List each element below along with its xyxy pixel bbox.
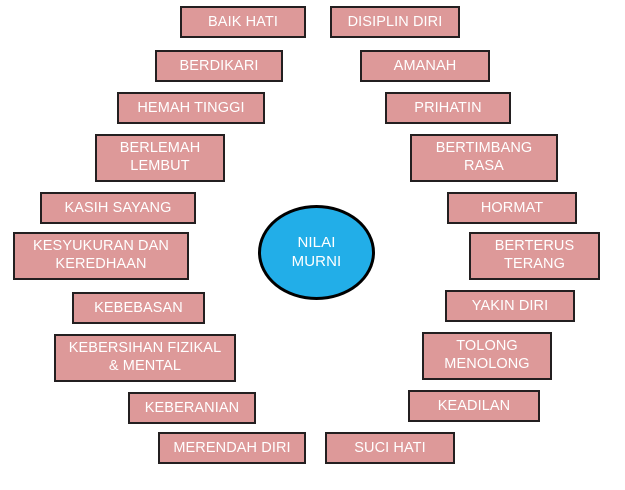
- value-node-label: KEADILAN: [438, 398, 511, 414]
- value-node-prihatin: PRIHATIN: [385, 92, 511, 124]
- value-node-label: TOLONG MENOLONG: [444, 338, 529, 373]
- value-node-kesyukuran-keredhaan: KESYUKURAN DAN KEREDHAAN: [13, 232, 189, 280]
- value-node-tolong-menolong: TOLONG MENOLONG: [422, 332, 552, 380]
- value-node-label: KASIH SAYANG: [64, 200, 171, 216]
- value-node-berterus-terang: BERTERUS TERANG: [469, 232, 600, 280]
- value-node-label: HORMAT: [481, 200, 543, 216]
- value-node-baik-hati: BAIK HATI: [180, 6, 306, 38]
- center-node-nilai-murni: NILAI MURNI: [258, 205, 375, 300]
- value-node-label: KESYUKURAN DAN KEREDHAAN: [33, 238, 169, 273]
- value-node-hormat: HORMAT: [447, 192, 577, 224]
- value-node-label: PRIHATIN: [414, 100, 481, 116]
- value-node-label: KEBERSIHAN FIZIKAL & MENTAL: [69, 340, 221, 375]
- value-node-label: BERDIKARI: [179, 58, 258, 74]
- value-node-label: MERENDAH DIRI: [173, 440, 290, 456]
- nilai-murni-diagram: NILAI MURNI BAIK HATIBERDIKARIHEMAH TING…: [0, 0, 625, 490]
- value-node-kasih-sayang: KASIH SAYANG: [40, 192, 196, 224]
- value-node-yakin-diri: YAKIN DIRI: [445, 290, 575, 322]
- value-node-merendah-diri: MERENDAH DIRI: [158, 432, 306, 464]
- value-node-hemah-tinggi: HEMAH TINGGI: [117, 92, 265, 124]
- value-node-label: AMANAH: [394, 58, 457, 74]
- value-node-kebebasan: KEBEBASAN: [72, 292, 205, 324]
- value-node-disiplin-diri: DISIPLIN DIRI: [330, 6, 460, 38]
- value-node-label: DISIPLIN DIRI: [348, 14, 443, 30]
- value-node-label: HEMAH TINGGI: [137, 100, 244, 116]
- value-node-label: BERTIMBANG RASA: [436, 140, 533, 175]
- value-node-kebersihan-fizikal: KEBERSIHAN FIZIKAL & MENTAL: [54, 334, 236, 382]
- value-node-bertimbang-rasa: BERTIMBANG RASA: [410, 134, 558, 182]
- value-node-suci-hati: SUCI HATI: [325, 432, 455, 464]
- value-node-amanah: AMANAH: [360, 50, 490, 82]
- value-node-berdikari: BERDIKARI: [155, 50, 283, 82]
- value-node-label: KEBERANIAN: [145, 400, 239, 416]
- value-node-label: BERTERUS TERANG: [495, 238, 575, 273]
- value-node-label: BERLEMAH LEMBUT: [120, 140, 201, 175]
- value-node-keadilan: KEADILAN: [408, 390, 540, 422]
- value-node-berlemah-lembut: BERLEMAH LEMBUT: [95, 134, 225, 182]
- value-node-label: SUCI HATI: [354, 440, 426, 456]
- value-node-label: KEBEBASAN: [94, 300, 183, 316]
- value-node-label: BAIK HATI: [208, 14, 278, 30]
- value-node-label: YAKIN DIRI: [472, 298, 548, 314]
- value-node-keberanian: KEBERANIAN: [128, 392, 256, 424]
- center-node-label: NILAI MURNI: [292, 234, 342, 272]
